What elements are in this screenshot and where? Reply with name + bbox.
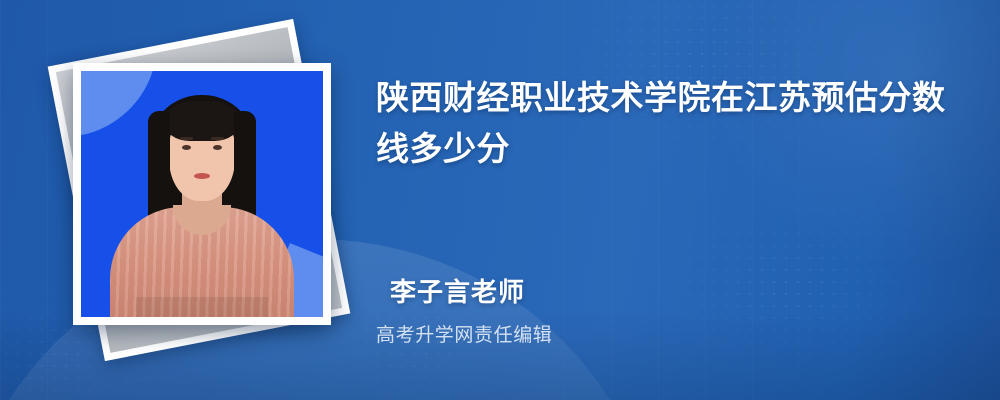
author-photo-frame — [73, 63, 331, 325]
portrait-dress-waistband — [136, 297, 268, 317]
portrait-photo-icon — [81, 71, 323, 317]
byline: 李子言老师 高考升学网责任编辑 — [376, 272, 936, 347]
portrait-eye-right — [213, 145, 222, 150]
banner-text-column: 陕西财经职业技术学院在江苏预估分数线多少分 李子言老师 高考升学网责任编辑 — [376, 0, 976, 400]
portrait-eyebrow-right — [211, 137, 224, 140]
portrait-eyebrow-left — [180, 137, 193, 140]
author-name: 李子言老师 — [376, 272, 936, 309]
author-role: 高考升学网责任编辑 — [376, 320, 936, 347]
photo-card-stack — [46, 38, 346, 350]
promo-banner: 陕西财经职业技术学院在江苏预估分数线多少分 李子言老师 高考升学网责任编辑 — [0, 0, 1000, 400]
portrait-fringe — [164, 101, 240, 141]
author-photo — [81, 71, 323, 317]
page-title: 陕西财经职业技术学院在江苏预估分数线多少分 — [376, 72, 956, 174]
portrait-lips — [194, 173, 210, 179]
portrait-eye-left — [182, 145, 191, 150]
